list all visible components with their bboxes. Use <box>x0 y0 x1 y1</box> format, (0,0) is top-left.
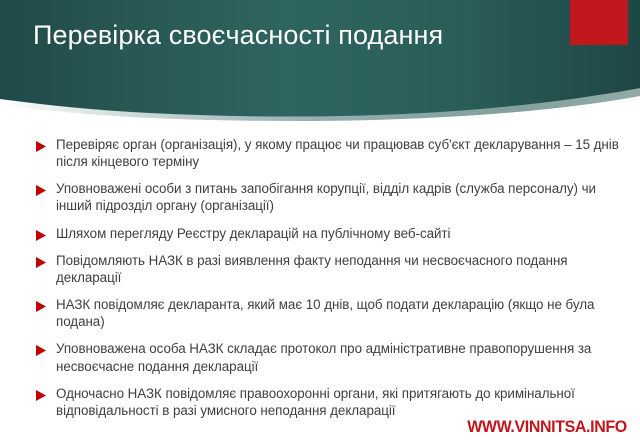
site-watermark: WWW.VINNITSA.INFO <box>467 417 627 437</box>
triangle-bullet-icon <box>36 230 46 241</box>
page-title: Перевірка своєчасності подання <box>33 18 553 54</box>
triangle-bullet-icon <box>36 185 46 196</box>
list-item: Шляхом перегляду Реєстру декларацій на п… <box>0 225 640 242</box>
list-item: Повідомляють НАЗК в разі виявлення факту… <box>0 252 640 286</box>
list-item: Уповноважена особа НАЗК складає протокол… <box>0 340 640 374</box>
list-item-text: НАЗК повідомляє декларанта, який має 10 … <box>56 296 626 330</box>
list-item-text: Перевіряє орган (організація), у якому п… <box>56 136 626 170</box>
list-item: Уповноважені особи з питань запобігання … <box>0 180 640 214</box>
triangle-bullet-icon <box>36 301 46 312</box>
bullet-list: Перевіряє орган (організація), у якому п… <box>0 136 640 429</box>
triangle-bullet-icon <box>36 390 46 401</box>
list-item: НАЗК повідомляє декларанта, який має 10 … <box>0 296 640 330</box>
list-item-text: Одночасно НАЗК повідомляє правоохоронні … <box>56 385 626 419</box>
triangle-bullet-icon <box>36 345 46 356</box>
list-item: Перевіряє орган (організація), у якому п… <box>0 136 640 170</box>
presentation-slide: Перевірка своєчасності подання Перевіряє… <box>0 0 640 442</box>
list-item-text: Уповноважена особа НАЗК складає протокол… <box>56 340 626 374</box>
triangle-bullet-icon <box>36 141 46 152</box>
slide-title-block: Перевірка своєчасності подання <box>33 18 553 54</box>
list-item-text: Повідомляють НАЗК в разі виявлення факту… <box>56 252 626 286</box>
red-accent-rectangle <box>570 0 628 45</box>
triangle-bullet-icon <box>36 257 46 268</box>
slide-header-banner: Перевірка своєчасності подання <box>0 0 640 130</box>
list-item-text: Уповноважені особи з питань запобігання … <box>56 180 626 214</box>
list-item-text: Шляхом перегляду Реєстру декларацій на п… <box>56 225 626 242</box>
list-item: Одночасно НАЗК повідомляє правоохоронні … <box>0 385 640 419</box>
